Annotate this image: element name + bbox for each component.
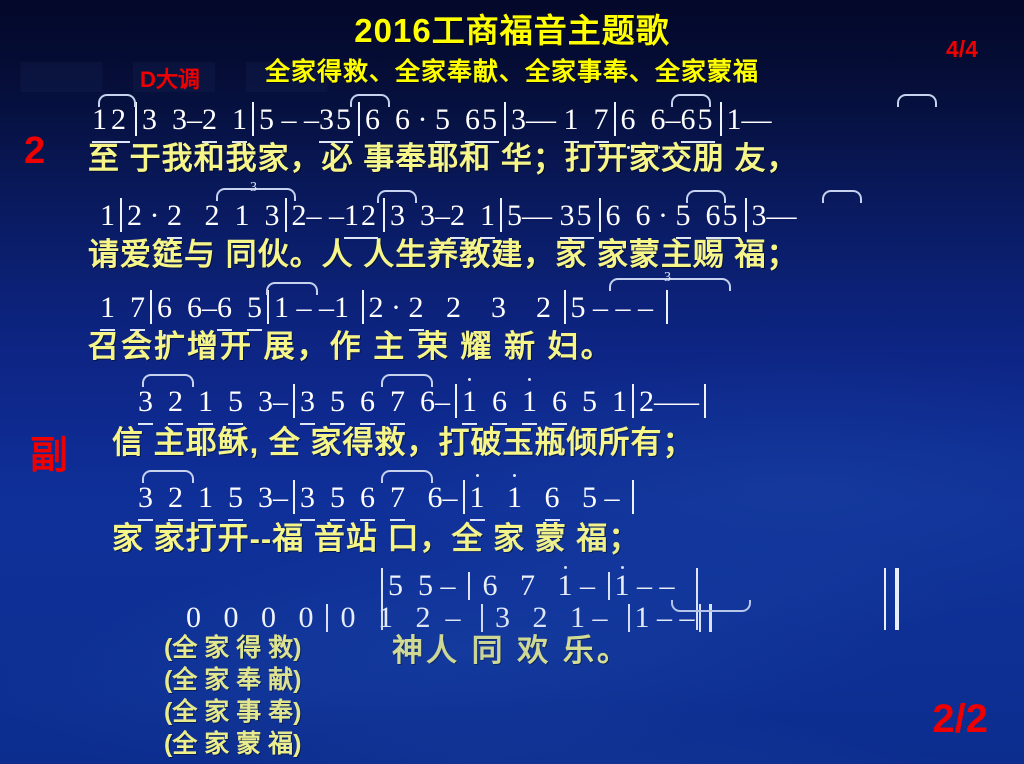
slur-mark bbox=[897, 94, 937, 107]
list-item: (全 家 蒙 福) bbox=[164, 728, 302, 760]
slur-mark bbox=[350, 94, 390, 107]
page-number: 2/2 bbox=[932, 697, 988, 742]
note-row-chorus-2: 3 2 1 5 3–3 5 6 7 6–1 1 6 5 – bbox=[138, 478, 1024, 518]
triplet-number: 3 bbox=[664, 270, 671, 286]
slur-mark bbox=[822, 190, 862, 203]
slur-mark bbox=[671, 94, 711, 107]
slide-canvas: 2016工商福音主题歌 全家得救、全家奉献、全家事奉、全家蒙福 D大调 4/4 … bbox=[0, 0, 1024, 764]
slur-mark bbox=[686, 190, 726, 203]
slur-mark bbox=[381, 470, 433, 483]
slur-mark bbox=[377, 190, 417, 203]
final-double-barline bbox=[884, 568, 899, 630]
note-row-verse-2: 12 · 2 2 1 32– –123 3–2 15–– 356 6 · 5 6… bbox=[100, 196, 1024, 236]
triplet-number: 3 bbox=[250, 180, 257, 196]
key-signature-label: D大调 bbox=[140, 62, 200, 94]
slur-mark bbox=[266, 282, 318, 295]
lyric-row-verse-2: 请爱筵与 同伙。人 人生养教建，家 家蒙主赐 福； bbox=[88, 236, 1024, 274]
lyric-row-ending: 神人 同 欢 乐。 bbox=[392, 632, 1024, 670]
lyric-row-chorus-2: 家 家打开--福 音站 口，全 家 蒙 福； bbox=[112, 520, 1024, 558]
page-title: 2016工商福音主题歌 bbox=[0, 4, 1024, 52]
lyric-row-verse-3: 召会扩增开 展，作 主 荣 耀 新 妇。 bbox=[88, 328, 1024, 366]
slur-mark bbox=[381, 374, 433, 387]
list-item: (全 家 奉 献) bbox=[164, 664, 302, 696]
verse-marker: 2 bbox=[24, 130, 45, 173]
slur-mark bbox=[142, 374, 194, 387]
voice-bracket bbox=[696, 568, 698, 630]
list-item: (全 家 得 救) bbox=[164, 632, 302, 664]
note-row-verse-3: 1 76 6–6 51 – –1 2 · 2 2 3 2 5 – – – bbox=[100, 288, 1024, 328]
tie-mark bbox=[671, 600, 751, 612]
note-row-chorus-1: 3 2 1 5 3–3 5 6 7 6–1 6 1 6 5 12––– bbox=[138, 382, 1024, 422]
lyric-row-chorus-1: 信 主耶稣, 全 家得救，打破玉瓶倾所有； bbox=[112, 424, 1024, 462]
note-row-ending-upper: 5 5 – 6 7 1 – 1 – – bbox=[388, 570, 1024, 602]
voice-bracket bbox=[381, 568, 383, 630]
list-item: (全 家 事 奉) bbox=[164, 696, 302, 728]
lyric-row-verse-1: 至 于我和我家，必 事奉耶和 华；打开家交朋 友， bbox=[88, 140, 1024, 178]
slur-mark bbox=[142, 470, 194, 483]
chorus-marker: 副 bbox=[30, 424, 68, 479]
note-row-verse-1: 123 3–2 15 – –356 6 · 5 653–– 1 76 6–651… bbox=[92, 100, 1024, 140]
echo-phrase-list: (全 家 得 救) (全 家 奉 献) (全 家 事 奉) (全 家 蒙 福) bbox=[164, 632, 302, 760]
slur-mark bbox=[98, 94, 136, 107]
time-signature-label: 4/4 bbox=[946, 36, 978, 63]
